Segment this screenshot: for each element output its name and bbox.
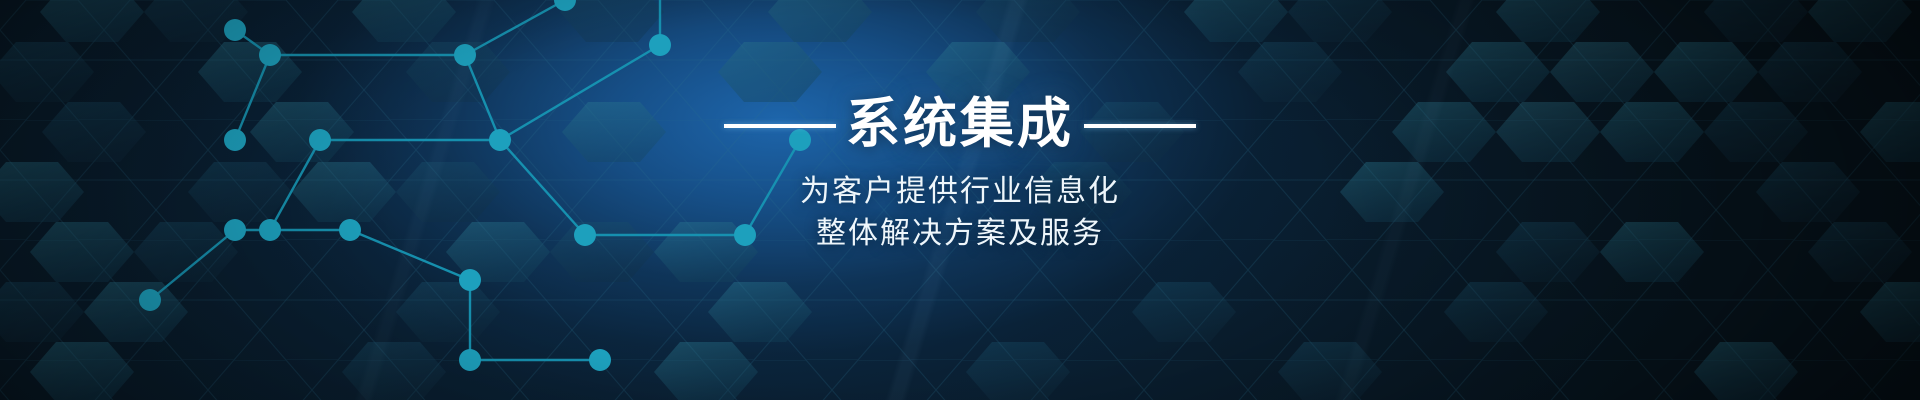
title-rule-right — [1084, 124, 1196, 128]
subtitle-line-2: 整体解决方案及服务 — [800, 213, 1120, 256]
title-row: 系统集成 — [714, 96, 1206, 153]
page-title: 系统集成 — [846, 96, 1074, 153]
hero-banner: 系统集成 为客户提供行业信息化 整体解决方案及服务 — [0, 0, 1920, 400]
title-rule-left — [724, 124, 836, 128]
banner-content: 系统集成 为客户提供行业信息化 整体解决方案及服务 — [0, 0, 1920, 400]
subtitle-line-1: 为客户提供行业信息化 — [800, 171, 1120, 214]
subtitle-block: 为客户提供行业信息化 整体解决方案及服务 — [800, 171, 1120, 256]
